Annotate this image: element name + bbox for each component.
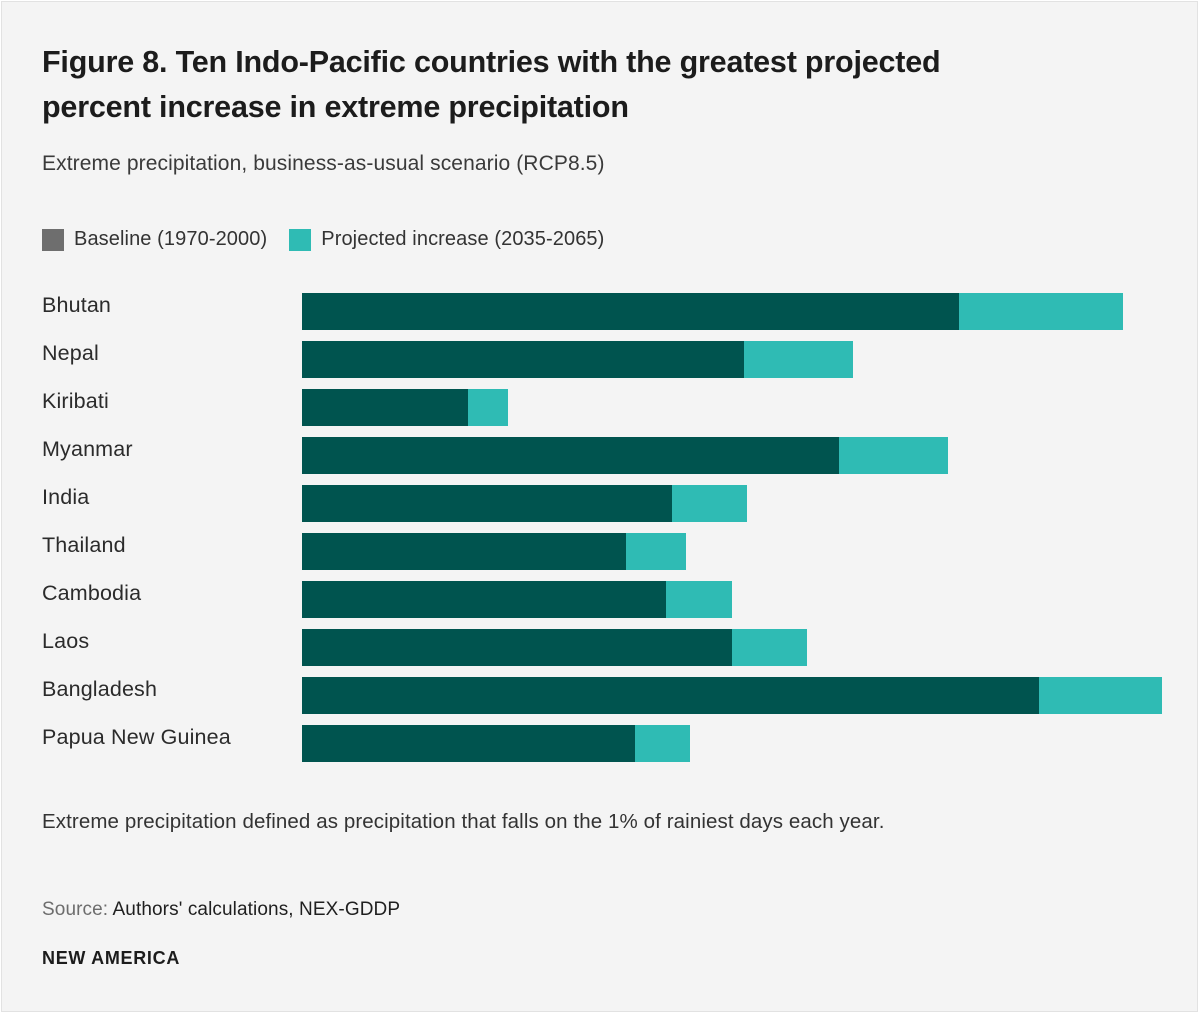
bar-segment-projected-increase <box>672 485 747 522</box>
category-label-papua-new-guinea: Papua New Guinea <box>42 719 292 756</box>
bar-segment-projected-increase <box>732 629 807 666</box>
bar-segment-baseline <box>302 725 635 762</box>
bar-row: Kiribati <box>2 383 1199 431</box>
stacked-bar <box>302 533 686 570</box>
bar-segment-baseline <box>302 581 666 618</box>
bar-row: Bangladesh <box>2 671 1199 719</box>
page-title: Figure 8. Ten Indo-Pacific countries wit… <box>42 40 1052 130</box>
bar-row: Laos <box>2 623 1199 671</box>
bar-segment-projected-increase <box>839 437 948 474</box>
stacked-bar <box>302 437 948 474</box>
category-label-laos: Laos <box>42 623 292 660</box>
bar-row: Papua New Guinea <box>2 719 1199 767</box>
bar-segment-baseline <box>302 485 672 522</box>
stacked-bar <box>302 485 747 522</box>
bar-segment-projected-increase <box>468 389 508 426</box>
legend-item-projected-increase: Projected increase (2035-2065) <box>289 228 604 251</box>
stacked-bar <box>302 341 853 378</box>
source-line: Source: Authors' calculations, NEX-GDDP <box>42 899 400 921</box>
bar-segment-projected-increase <box>666 581 732 618</box>
stacked-bar <box>302 629 807 666</box>
bar-row: Myanmar <box>2 431 1199 479</box>
bar-segment-baseline <box>302 341 744 378</box>
bar-segment-projected-increase <box>635 725 690 762</box>
category-label-bhutan: Bhutan <box>42 287 292 324</box>
stacked-bar <box>302 725 690 762</box>
legend-item-baseline: Baseline (1970-2000) <box>42 228 267 251</box>
legend-label-baseline: Baseline (1970-2000) <box>74 228 267 251</box>
source-value: Authors' calculations, NEX-GDDP <box>113 899 401 920</box>
source-label: Source: <box>42 899 108 920</box>
stacked-bar <box>302 581 732 618</box>
bar-chart-plot-area: BhutanNepalKiribatiMyanmarIndiaThailandC… <box>2 287 1199 772</box>
bar-segment-projected-increase <box>959 293 1123 330</box>
bar-segment-projected-increase <box>626 533 686 570</box>
bar-segment-baseline <box>302 389 468 426</box>
bar-row: Nepal <box>2 335 1199 383</box>
bar-segment-baseline <box>302 293 959 330</box>
figure-container: Figure 8. Ten Indo-Pacific countries wit… <box>1 1 1198 1012</box>
bar-segment-baseline <box>302 533 626 570</box>
bar-segment-baseline <box>302 677 1039 714</box>
bar-row: Cambodia <box>2 575 1199 623</box>
bar-row: Bhutan <box>2 287 1199 335</box>
legend-swatch-projected-increase <box>289 229 311 251</box>
category-label-nepal: Nepal <box>42 335 292 372</box>
bar-row: Thailand <box>2 527 1199 575</box>
legend-label-projected-increase: Projected increase (2035-2065) <box>321 228 604 251</box>
bar-row: India <box>2 479 1199 527</box>
category-label-myanmar: Myanmar <box>42 431 292 468</box>
figure-subtitle: Extreme precipitation, business-as-usual… <box>42 152 605 176</box>
figure-footnote: Extreme precipitation defined as precipi… <box>42 805 1167 839</box>
stacked-bar <box>302 389 508 426</box>
category-label-india: India <box>42 479 292 516</box>
bar-segment-baseline <box>302 629 732 666</box>
category-label-bangladesh: Bangladesh <box>42 671 292 708</box>
bar-segment-baseline <box>302 437 839 474</box>
bar-segment-projected-increase <box>1039 677 1162 714</box>
category-label-kiribati: Kiribati <box>42 383 292 420</box>
brand-logo-new-america: NEW AMERICA <box>42 948 180 969</box>
stacked-bar <box>302 293 1123 330</box>
legend-swatch-baseline <box>42 229 64 251</box>
category-label-cambodia: Cambodia <box>42 575 292 612</box>
chart-legend: Baseline (1970-2000) Projected increase … <box>42 228 604 251</box>
category-label-thailand: Thailand <box>42 527 292 564</box>
bar-segment-projected-increase <box>744 341 853 378</box>
stacked-bar <box>302 677 1162 714</box>
